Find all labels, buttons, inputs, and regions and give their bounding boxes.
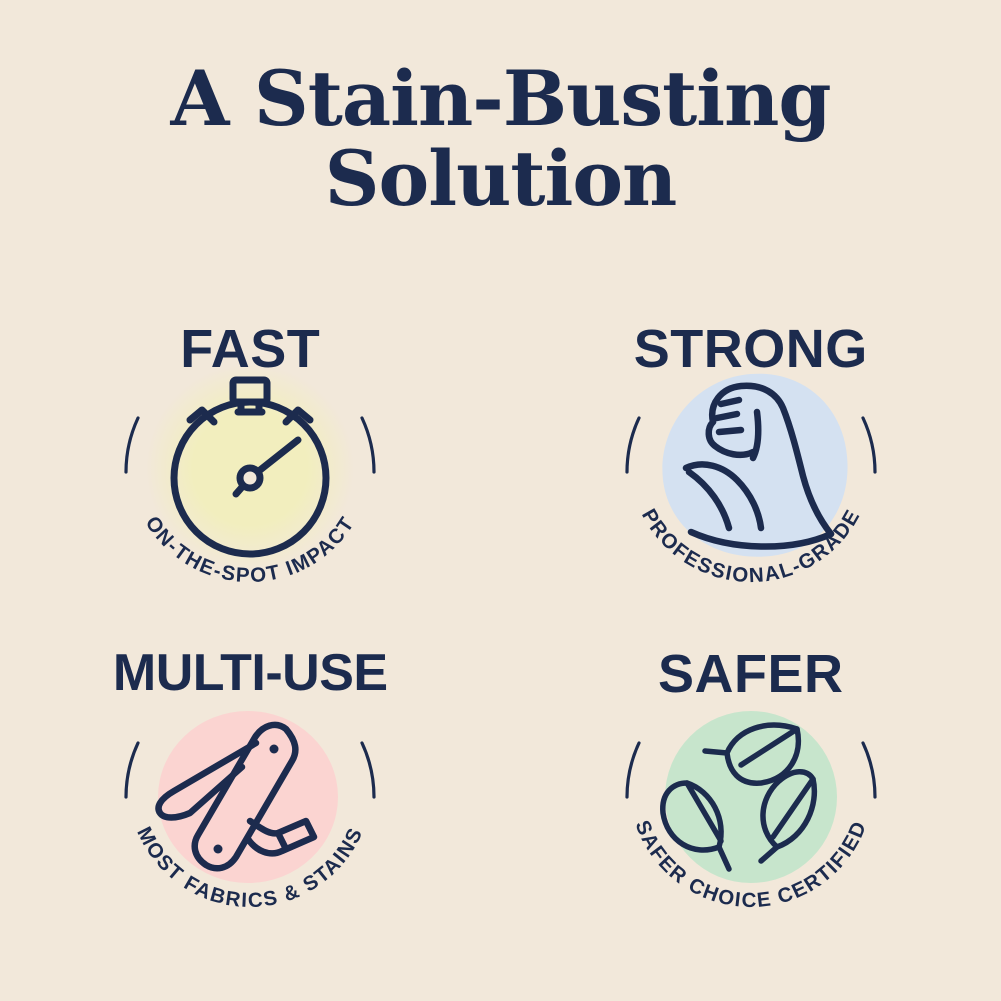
title-line-2: Solution bbox=[0, 142, 1001, 216]
badge-multi-use: MULTI-USE bbox=[0, 625, 501, 950]
blob-pink bbox=[158, 711, 338, 883]
page-title: A Stain-Busting Solution bbox=[0, 0, 1001, 217]
badge-safer: SAFER bbox=[501, 625, 1001, 950]
badge-heading-multi-use: MULTI-USE bbox=[90, 647, 410, 699]
title-line-1: A Stain-Busting bbox=[0, 62, 1001, 136]
badge-strong: STRONG bbox=[501, 300, 1001, 625]
badge-heading-safer: SAFER bbox=[591, 647, 911, 701]
blob-green bbox=[665, 711, 837, 883]
badge-grid: FAST bbox=[0, 300, 1001, 950]
badge-heading-fast: FAST bbox=[90, 322, 410, 376]
badge-fast: FAST bbox=[0, 300, 501, 625]
infographic-page: A Stain-Busting Solution FAST bbox=[0, 0, 1001, 1001]
badge-heading-strong: STRONG bbox=[591, 322, 911, 376]
